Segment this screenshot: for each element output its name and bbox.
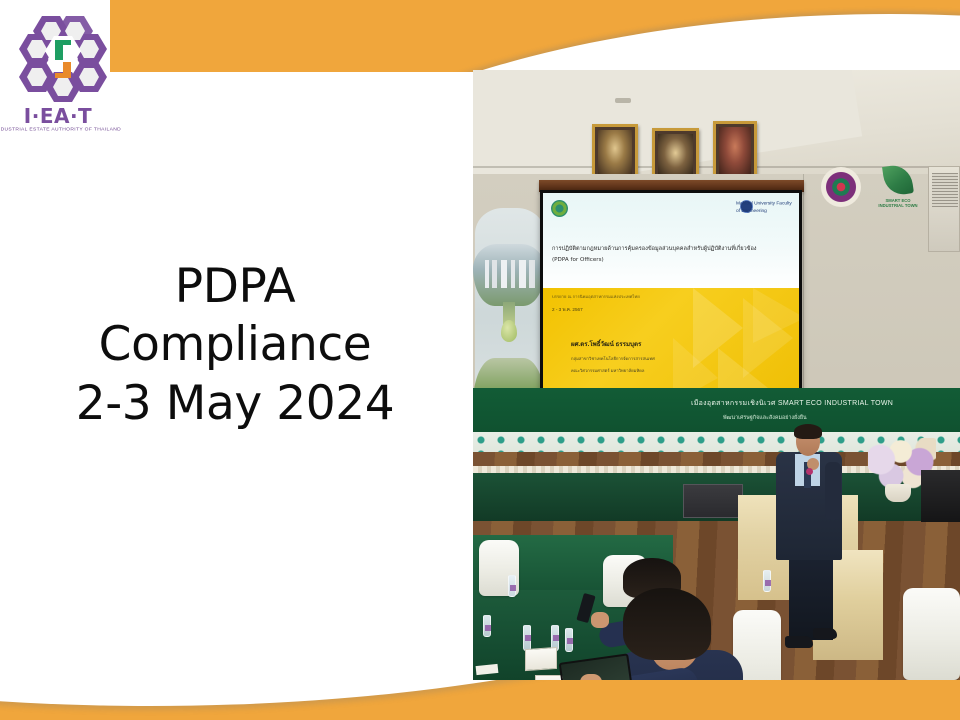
slide-affiliation-2: คณะวิศวกรรมศาสตร์ มหาวิทยาลัยมหิดล <box>571 367 644 374</box>
presenter-hair <box>794 424 822 439</box>
slide-affiliation-1: กลุ่มสาขาวิชาเทคโนโลยีการจัดการสารสนเทศ <box>571 355 655 362</box>
water-bottle <box>483 615 491 637</box>
slide-title: การปฏิบัติตามกฎหมายด้านการคุ้มครองข้อมูล… <box>552 244 796 265</box>
ieat-hex-mark <box>8 12 108 104</box>
title-line-1: PDPA <box>20 258 450 316</box>
banner-subtext: พัฒนาเศรษฐกิจและสังคมอย่างยั่งยืน <box>723 414 807 422</box>
ieat-subtitle: INDUSTRIAL ESTATE AUTHORITY OF THAILAND <box>0 126 131 132</box>
ieat-emblem-backdrop <box>821 167 861 207</box>
water-bottle <box>763 570 771 592</box>
seminar-photo: Mahidol University Faculty of Engineerin… <box>473 70 960 705</box>
av-speaker <box>921 470 960 522</box>
bottom-accent-band <box>0 680 960 720</box>
slide-title-th: การปฏิบัติตามกฎหมายด้านการคุ้มครองข้อมูล… <box>552 244 796 255</box>
title-line-2: Compliance <box>20 316 450 374</box>
ceiling-lamp <box>615 98 631 103</box>
attendee-back-hand <box>591 612 609 628</box>
flower-vase <box>885 484 911 502</box>
leaf-icon <box>882 163 914 197</box>
title-line-3: 2-3 May 2024 <box>20 375 450 433</box>
smart-eco-logo: SMART ECO INDUSTRIAL TOWN <box>878 165 918 211</box>
bottom-swoosh <box>0 680 960 706</box>
hourglass-city <box>481 260 537 288</box>
water-bottle <box>523 625 531 651</box>
water-bottle <box>565 628 573 652</box>
slide-title-en: (PDPA for Officers) <box>552 255 796 266</box>
microphone <box>806 468 813 475</box>
royal-portrait-right <box>713 121 757 182</box>
ieat-logo: I·EA·T INDUSTRIAL ESTATE AUTHORITY OF TH… <box>8 12 108 137</box>
presentation-slide: I·EA·T INDUSTRIAL ESTATE AUTHORITY OF TH… <box>0 0 960 720</box>
smart-eco-label: SMART ECO INDUSTRIAL TOWN <box>878 198 918 209</box>
slide-date: 2 - 3 พ.ค. 2567 <box>552 307 583 314</box>
chair <box>903 588 960 680</box>
top-accent-band <box>110 0 960 72</box>
top-swoosh <box>190 14 960 72</box>
water-bottle <box>508 575 516 597</box>
slide-logo-left <box>551 200 568 217</box>
air-conditioner <box>928 166 960 252</box>
slide-organizer: บรรยาย ณ การนิคมอุตสาหกรรมแห่งประเทศไทย <box>552 293 640 300</box>
attendee-front-hair <box>623 588 711 660</box>
page-title: PDPA Compliance 2-3 May 2024 <box>20 258 450 433</box>
name-card <box>525 647 557 671</box>
slide-university-label: Mahidol University Faculty of Engineerin… <box>736 200 793 218</box>
banner-headline: เมืองอุตสาหกรรมเชิงนิเวศ SMART ECO INDUS… <box>691 398 893 409</box>
presenter-shoe-left <box>785 636 813 648</box>
presenter-arm <box>825 462 841 520</box>
laptop <box>683 484 743 518</box>
ieat-wordmark: I·EA·T <box>8 104 108 128</box>
presenter-shoe-right <box>813 628 837 639</box>
slide-speaker-name: ผศ.ดร.โพธิ์วัฒน์ ธรรมบุตร <box>571 339 641 349</box>
